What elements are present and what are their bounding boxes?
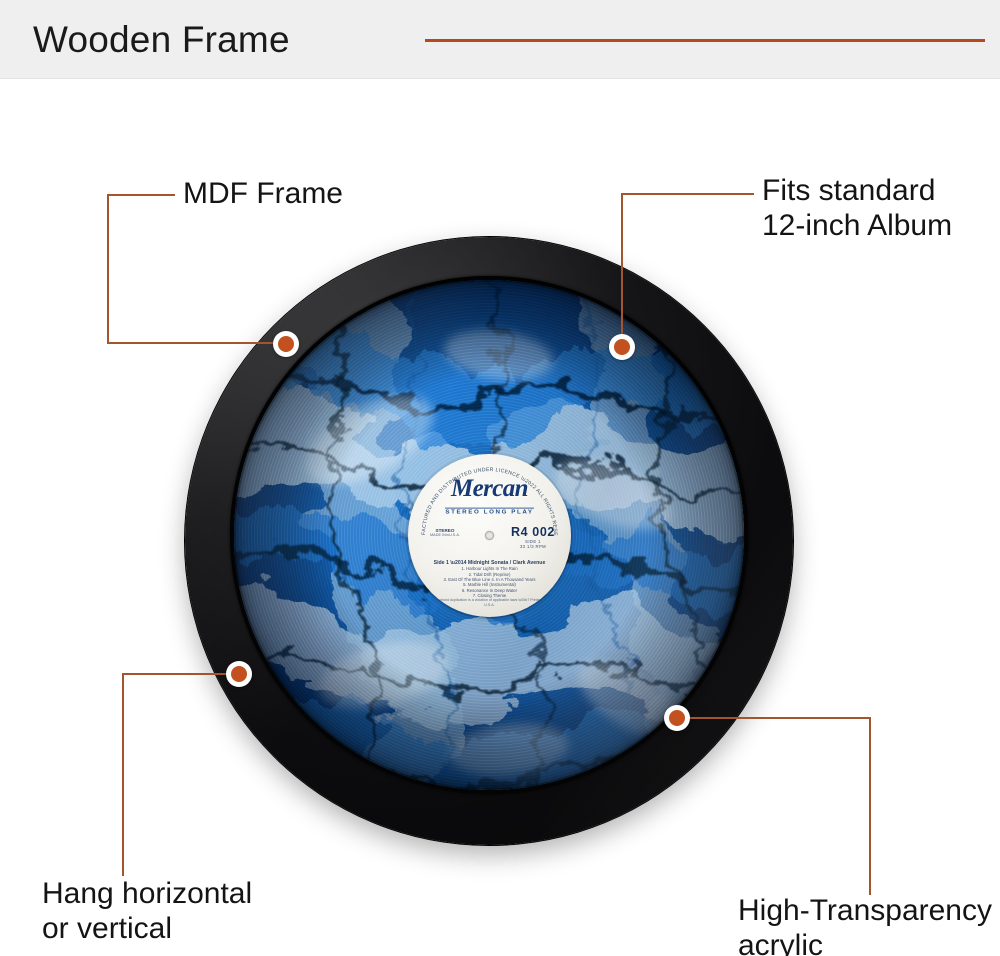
callout-dot-hang[interactable] xyxy=(226,661,252,687)
wooden-frame-outer: MANUFACTURED AND DISTRIBUTED UNDER LICEN… xyxy=(185,237,793,845)
callout-label-mdf-frame: MDF Frame xyxy=(183,176,343,211)
callout-label-acrylic: High-Transparency acrylic xyxy=(738,893,992,956)
record-label-side-info: STEREO MADE IN\nU.S.A. xyxy=(419,528,471,539)
leader-line-mdf-frame-top xyxy=(107,194,175,196)
leader-line-acrylic-vertical xyxy=(869,717,871,895)
record-label-catalog: R4 002 SIDE 1 33 1/3 RPM xyxy=(505,526,561,549)
product-stage: MANUFACTURED AND DISTRIBUTED UNDER LICEN… xyxy=(0,78,1000,956)
callout-dot-fits-album[interactable] xyxy=(609,334,635,360)
record-label-tracklist: Side 1 \u2014 Midnight Sonata / Clark Av… xyxy=(422,560,557,607)
product-infographic: Wooden Frame xyxy=(0,0,1000,956)
record-label-catalog-number: R4 002 xyxy=(505,526,561,539)
leader-line-mdf-frame-vertical xyxy=(107,194,109,344)
record-label-fine-print: Unauthorised duplication is a violation … xyxy=(422,598,557,607)
record-label-logo: Mercan STEREO LONG PLAY xyxy=(408,476,571,519)
record-label-brand-sub: STEREO LONG PLAY xyxy=(445,508,533,516)
page-title: Wooden Frame xyxy=(33,17,290,62)
callout-label-fits-album: Fits standard 12-inch Album xyxy=(762,173,952,243)
leader-line-hang-top xyxy=(122,673,232,675)
leader-line-mdf-frame-bottom xyxy=(107,342,279,344)
leader-line-fits-album-top xyxy=(621,193,754,195)
callout-dot-mdf-frame[interactable] xyxy=(273,331,299,357)
leader-line-acrylic-top xyxy=(677,717,871,719)
header-accent-rule xyxy=(425,39,985,42)
record-label-catalog-sub-2: 33 1/3 RPM xyxy=(505,544,561,549)
callout-dot-acrylic[interactable] xyxy=(664,705,690,731)
leader-line-fits-album-vertical xyxy=(621,193,623,347)
record-label-brand: Mercan xyxy=(408,476,571,501)
record-label: MANUFACTURED AND DISTRIBUTED UNDER LICEN… xyxy=(408,454,571,617)
leader-line-hang-vertical xyxy=(122,673,124,876)
spindle-hole xyxy=(485,531,494,540)
callout-label-hang: Hang horizontal or vertical xyxy=(42,876,252,946)
record-label-side-sub: MADE IN\nU.S.A. xyxy=(419,533,471,538)
